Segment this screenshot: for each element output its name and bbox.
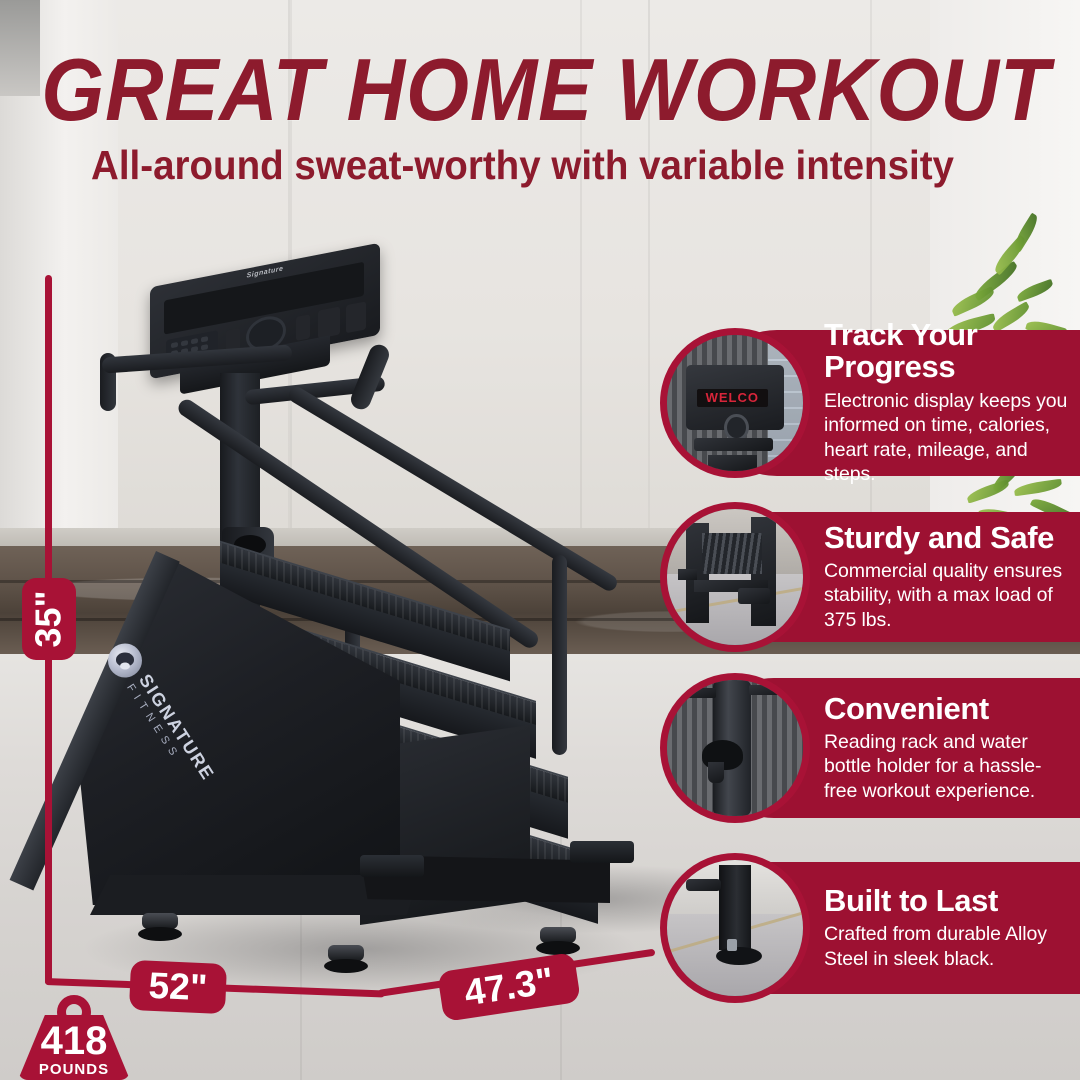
infographic-canvas: Signature (0, 0, 1080, 1080)
bottle-holder-closeup-thumbnail (660, 673, 810, 823)
foot-pedal-right (570, 841, 634, 863)
feature-description: Commercial quality ensures stability, wi… (824, 559, 1068, 633)
hand-grip (348, 342, 392, 413)
weight-unit: POUNDS (18, 1061, 130, 1078)
stair-climber-product-image: Signature (60, 255, 700, 985)
console-led-text: WELCO (697, 389, 768, 407)
feature-card-built-to-last[interactable]: Built to Last Crafted from durable Alloy… (704, 862, 1080, 994)
handrail-back (286, 384, 620, 593)
feature-title: Sturdy and Safe (824, 522, 1068, 554)
feature-card-sturdy-and-safe[interactable]: Sturdy and Safe Commercial quality ensur… (704, 512, 1080, 642)
handrail-post-back (552, 555, 567, 755)
height-dimension-label: 35" (22, 578, 76, 660)
feature-title: Convenient (824, 693, 1068, 725)
console-closeup-thumbnail: WELCO (660, 328, 810, 478)
feature-description: Electronic display keeps you informed on… (824, 389, 1068, 487)
leveling-foot-pad (536, 941, 580, 955)
feature-description: Crafted from durable Alloy Steel in slee… (824, 922, 1068, 971)
leveling-foot-pad (324, 959, 368, 973)
width-dimension-label: 52" (129, 960, 227, 1014)
bear-head-icon (108, 644, 142, 678)
wall-corner-shadow (0, 0, 40, 96)
feature-card-list: WELCO Track Your Progress Electronic dis… (660, 0, 1080, 1080)
leveling-foot-pad (138, 927, 182, 941)
weight-value: 418 (18, 1021, 130, 1061)
feature-card-track-your-progress[interactable]: WELCO Track Your Progress Electronic dis… (704, 330, 1080, 476)
feature-description: Reading rack and water bottle holder for… (824, 730, 1068, 804)
feature-title: Track Your Progress (824, 319, 1068, 383)
feature-card-convenient[interactable]: Convenient Reading rack and water bottle… (704, 678, 1080, 818)
foot-pedal-left (360, 855, 424, 877)
weight-badge: 418 POUNDS (18, 995, 130, 1080)
foot-closeup-thumbnail (660, 853, 810, 1003)
frame-closeup-thumbnail (660, 502, 810, 652)
feature-title: Built to Last (824, 885, 1068, 917)
